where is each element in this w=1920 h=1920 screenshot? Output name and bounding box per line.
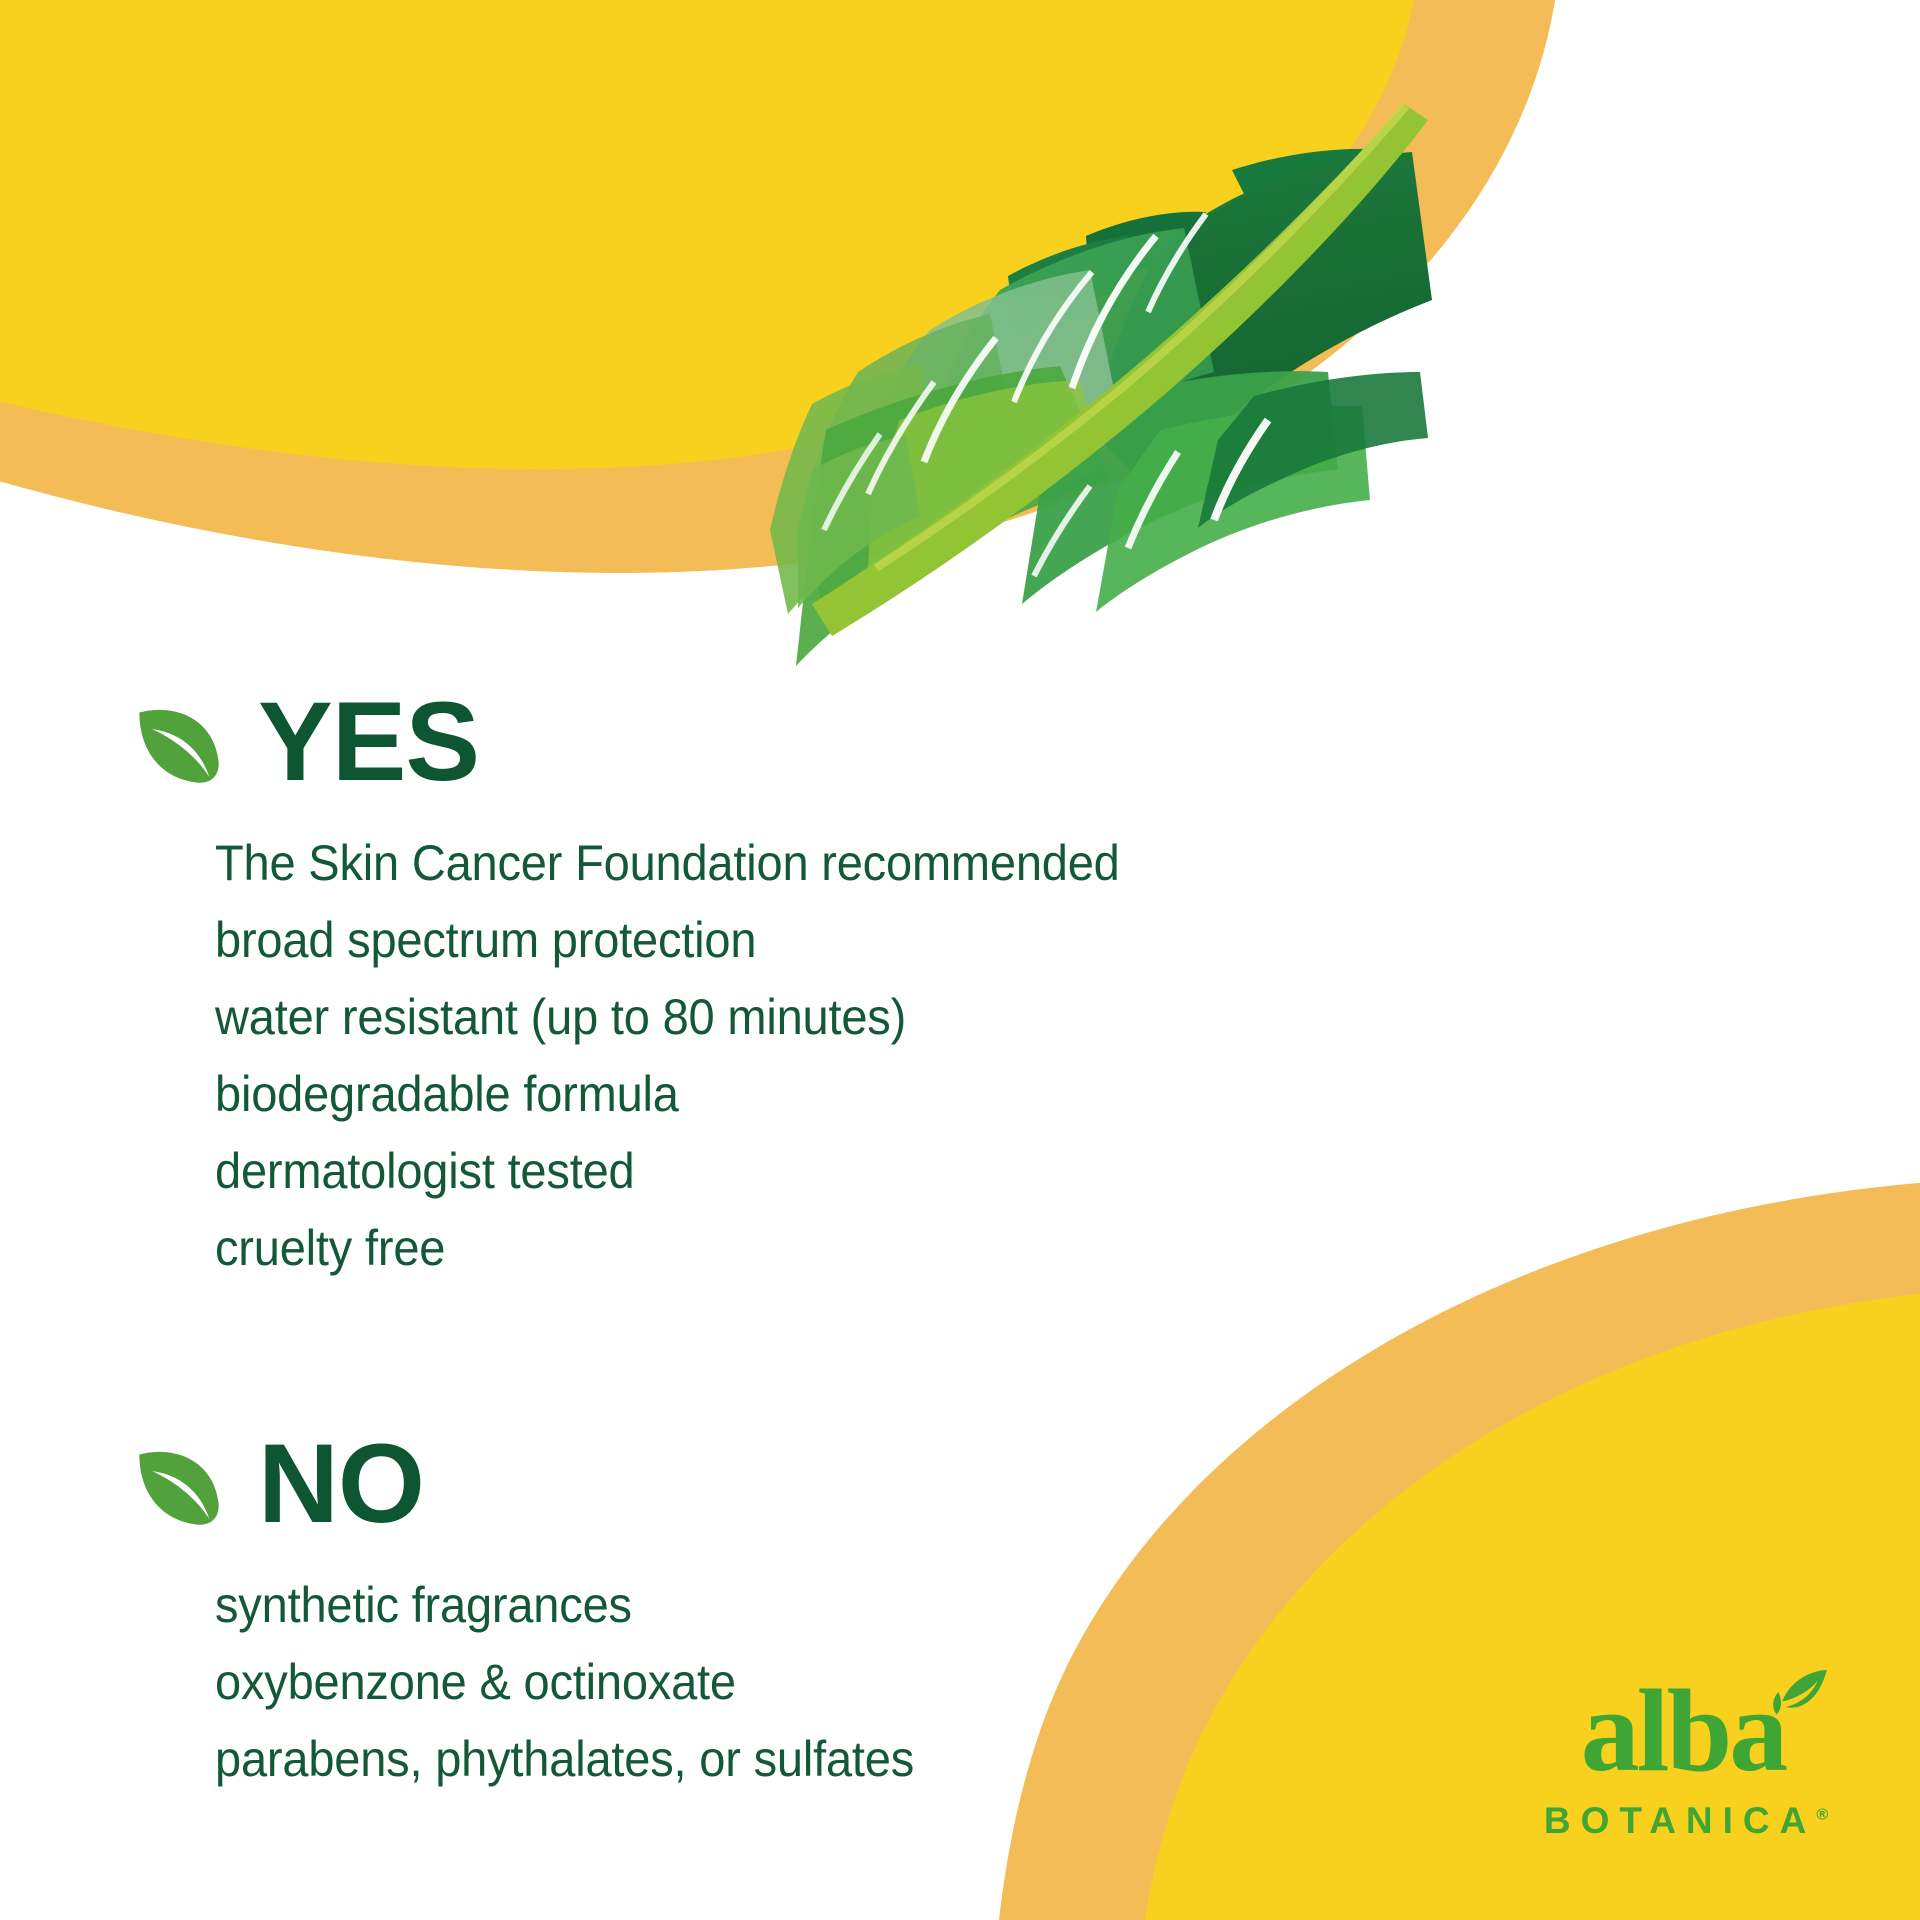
list-item: synthetic fragrances — [215, 1567, 914, 1644]
yes-heading-row: YES — [132, 690, 1177, 793]
list-item: biodegradable formula — [215, 1056, 1120, 1133]
list-item: broad spectrum protection — [215, 902, 1120, 979]
brand-leaf-icon — [1765, 1666, 1831, 1722]
yes-list: The Skin Cancer Foundation recommended b… — [215, 825, 1177, 1287]
no-section: NO synthetic fragrances oxybenzone & oct… — [132, 1432, 959, 1798]
trademark-symbol: ® — [1816, 1807, 1828, 1824]
brand-subtitle-text: BOTANICA — [1544, 1800, 1817, 1841]
list-item: water resistant (up to 80 minutes) — [215, 979, 1120, 1056]
brand-wordmark: alba — [1581, 1672, 1785, 1790]
poster-canvas: YES The Skin Cancer Foundation recommend… — [0, 0, 1920, 1920]
no-heading: NO — [258, 1432, 424, 1535]
list-item: The Skin Cancer Foundation recommended — [215, 825, 1120, 902]
list-item: parabens, phythalates, or sulfates — [215, 1721, 914, 1798]
no-heading-row: NO — [132, 1432, 959, 1535]
list-item: dermatologist tested — [215, 1133, 1120, 1210]
brand-wordmark-wrap: alba — [1581, 1672, 1785, 1790]
no-list: synthetic fragrances oxybenzone & octino… — [215, 1567, 959, 1798]
yes-section: YES The Skin Cancer Foundation recommend… — [132, 690, 1177, 1287]
brand-subtitle: BOTANICA® — [1518, 1800, 1848, 1842]
brand-logo: alba BOTANICA® — [1518, 1672, 1848, 1842]
leaf-icon — [132, 696, 224, 788]
list-item: oxybenzone & octinoxate — [215, 1644, 914, 1721]
list-item: cruelty free — [215, 1210, 1120, 1287]
leaf-icon — [132, 1438, 224, 1530]
yes-heading: YES — [258, 690, 479, 793]
poster-content: YES The Skin Cancer Foundation recommend… — [0, 0, 1920, 1920]
